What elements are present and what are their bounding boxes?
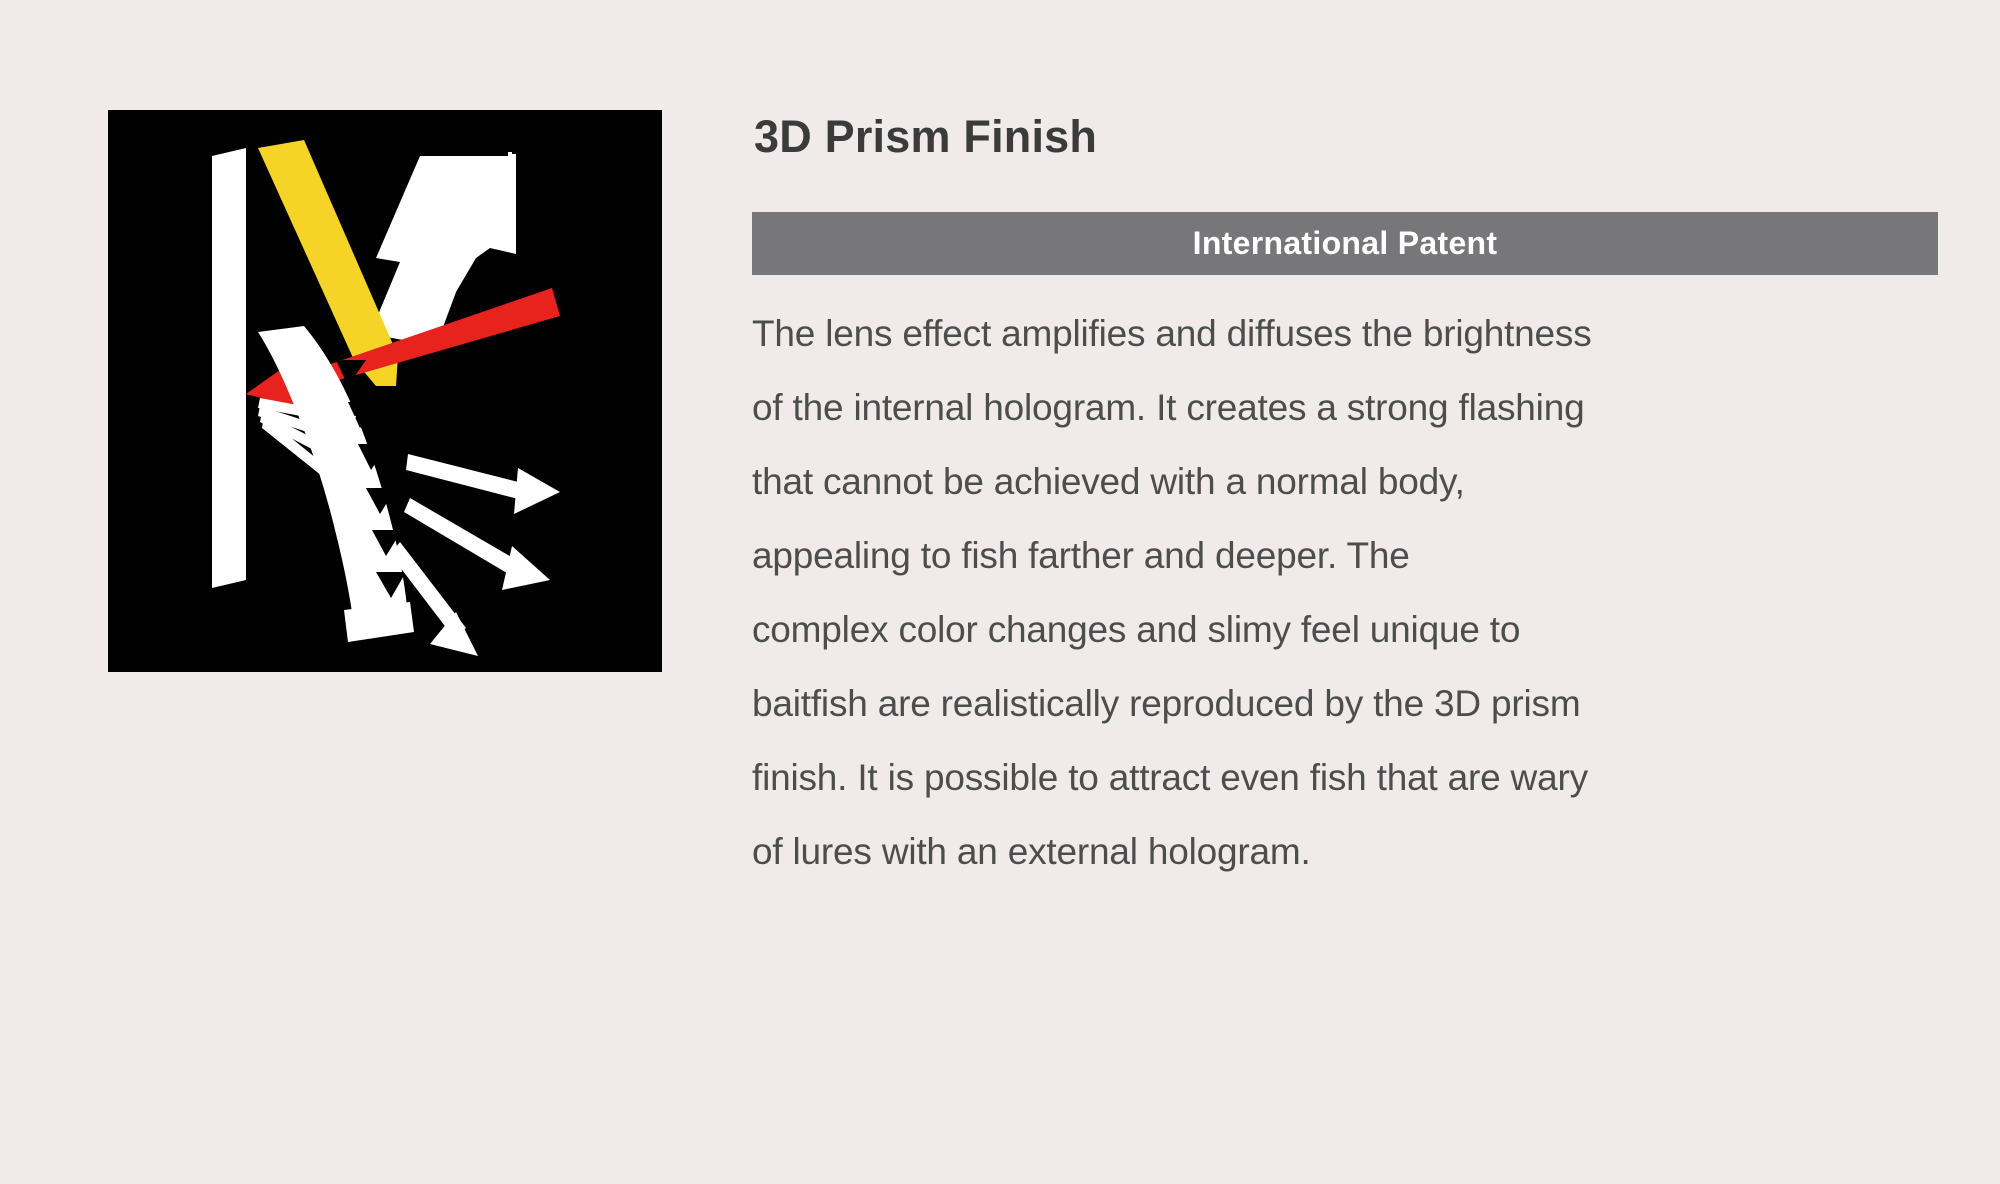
- body-wall-bar-icon: [212, 148, 246, 588]
- page-title: 3D Prism Finish: [752, 110, 1938, 164]
- prism-diagram-svg: [108, 110, 662, 672]
- prism-finish-panel: 3D Prism Finish International Patent The…: [0, 0, 2000, 1184]
- prism-diagram-figure: [108, 110, 662, 672]
- international-patent-banner: International Patent: [752, 212, 1938, 275]
- description-paragraph: The lens effect amplifies and diffuses t…: [752, 297, 1942, 889]
- patent-banner-label: International Patent: [1193, 225, 1498, 262]
- text-content-column: 3D Prism Finish International Patent The…: [752, 110, 1938, 889]
